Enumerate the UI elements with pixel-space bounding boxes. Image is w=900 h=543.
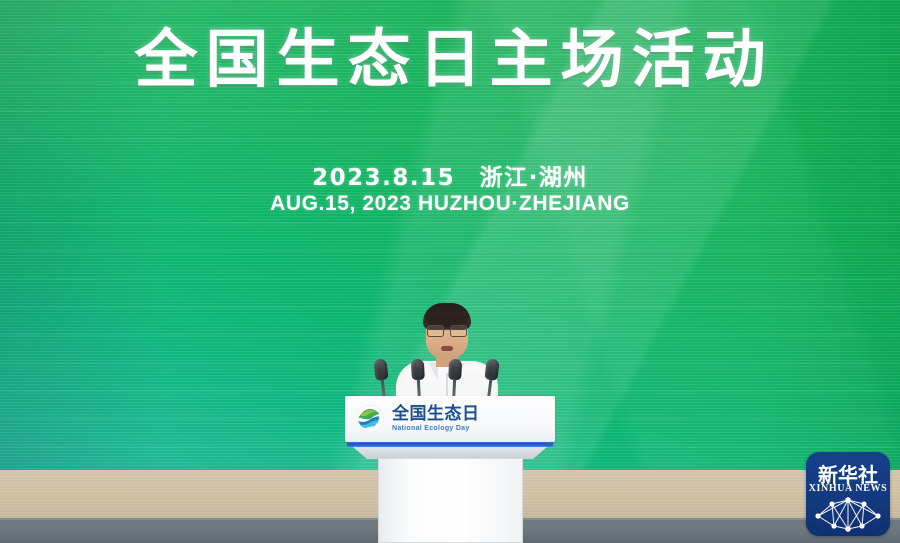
event-subtitle-english: AUG.15, 2023 HUZHOU·ZHEJIANG (0, 192, 900, 216)
podium-sign-english: National Ecology Day (392, 425, 480, 432)
xinhua-news-watermark: 新华社 XINHUA NEWS (806, 452, 890, 536)
podium-sign: 全国生态日 National Ecology Day (355, 403, 545, 435)
photo-stage-scene: 全国生态日主场活动 2023.8.15 浙江·湖州 AUG.15, 2023 H… (0, 0, 900, 543)
podium-top-panel: 全国生态日 National Ecology Day (345, 396, 555, 442)
network-graphic-icon (812, 496, 884, 532)
podium: 全国生态日 National Ecology Day (345, 396, 555, 543)
national-ecology-day-logo-icon (355, 404, 385, 434)
speaker-mouth (441, 346, 453, 351)
watermark-brand-english: XINHUA NEWS (806, 483, 890, 494)
event-subtitle-chinese: 2023.8.15 浙江·湖州 (0, 158, 900, 192)
podium-accent-stripe (347, 442, 553, 447)
event-title: 全国生态日主场活动 (0, 22, 900, 98)
podium-sign-chinese: 全国生态日 (392, 406, 480, 423)
glasses-icon (427, 325, 467, 336)
podium-base-column (378, 458, 523, 543)
podium-sign-text: 全国生态日 National Ecology Day (392, 406, 480, 432)
